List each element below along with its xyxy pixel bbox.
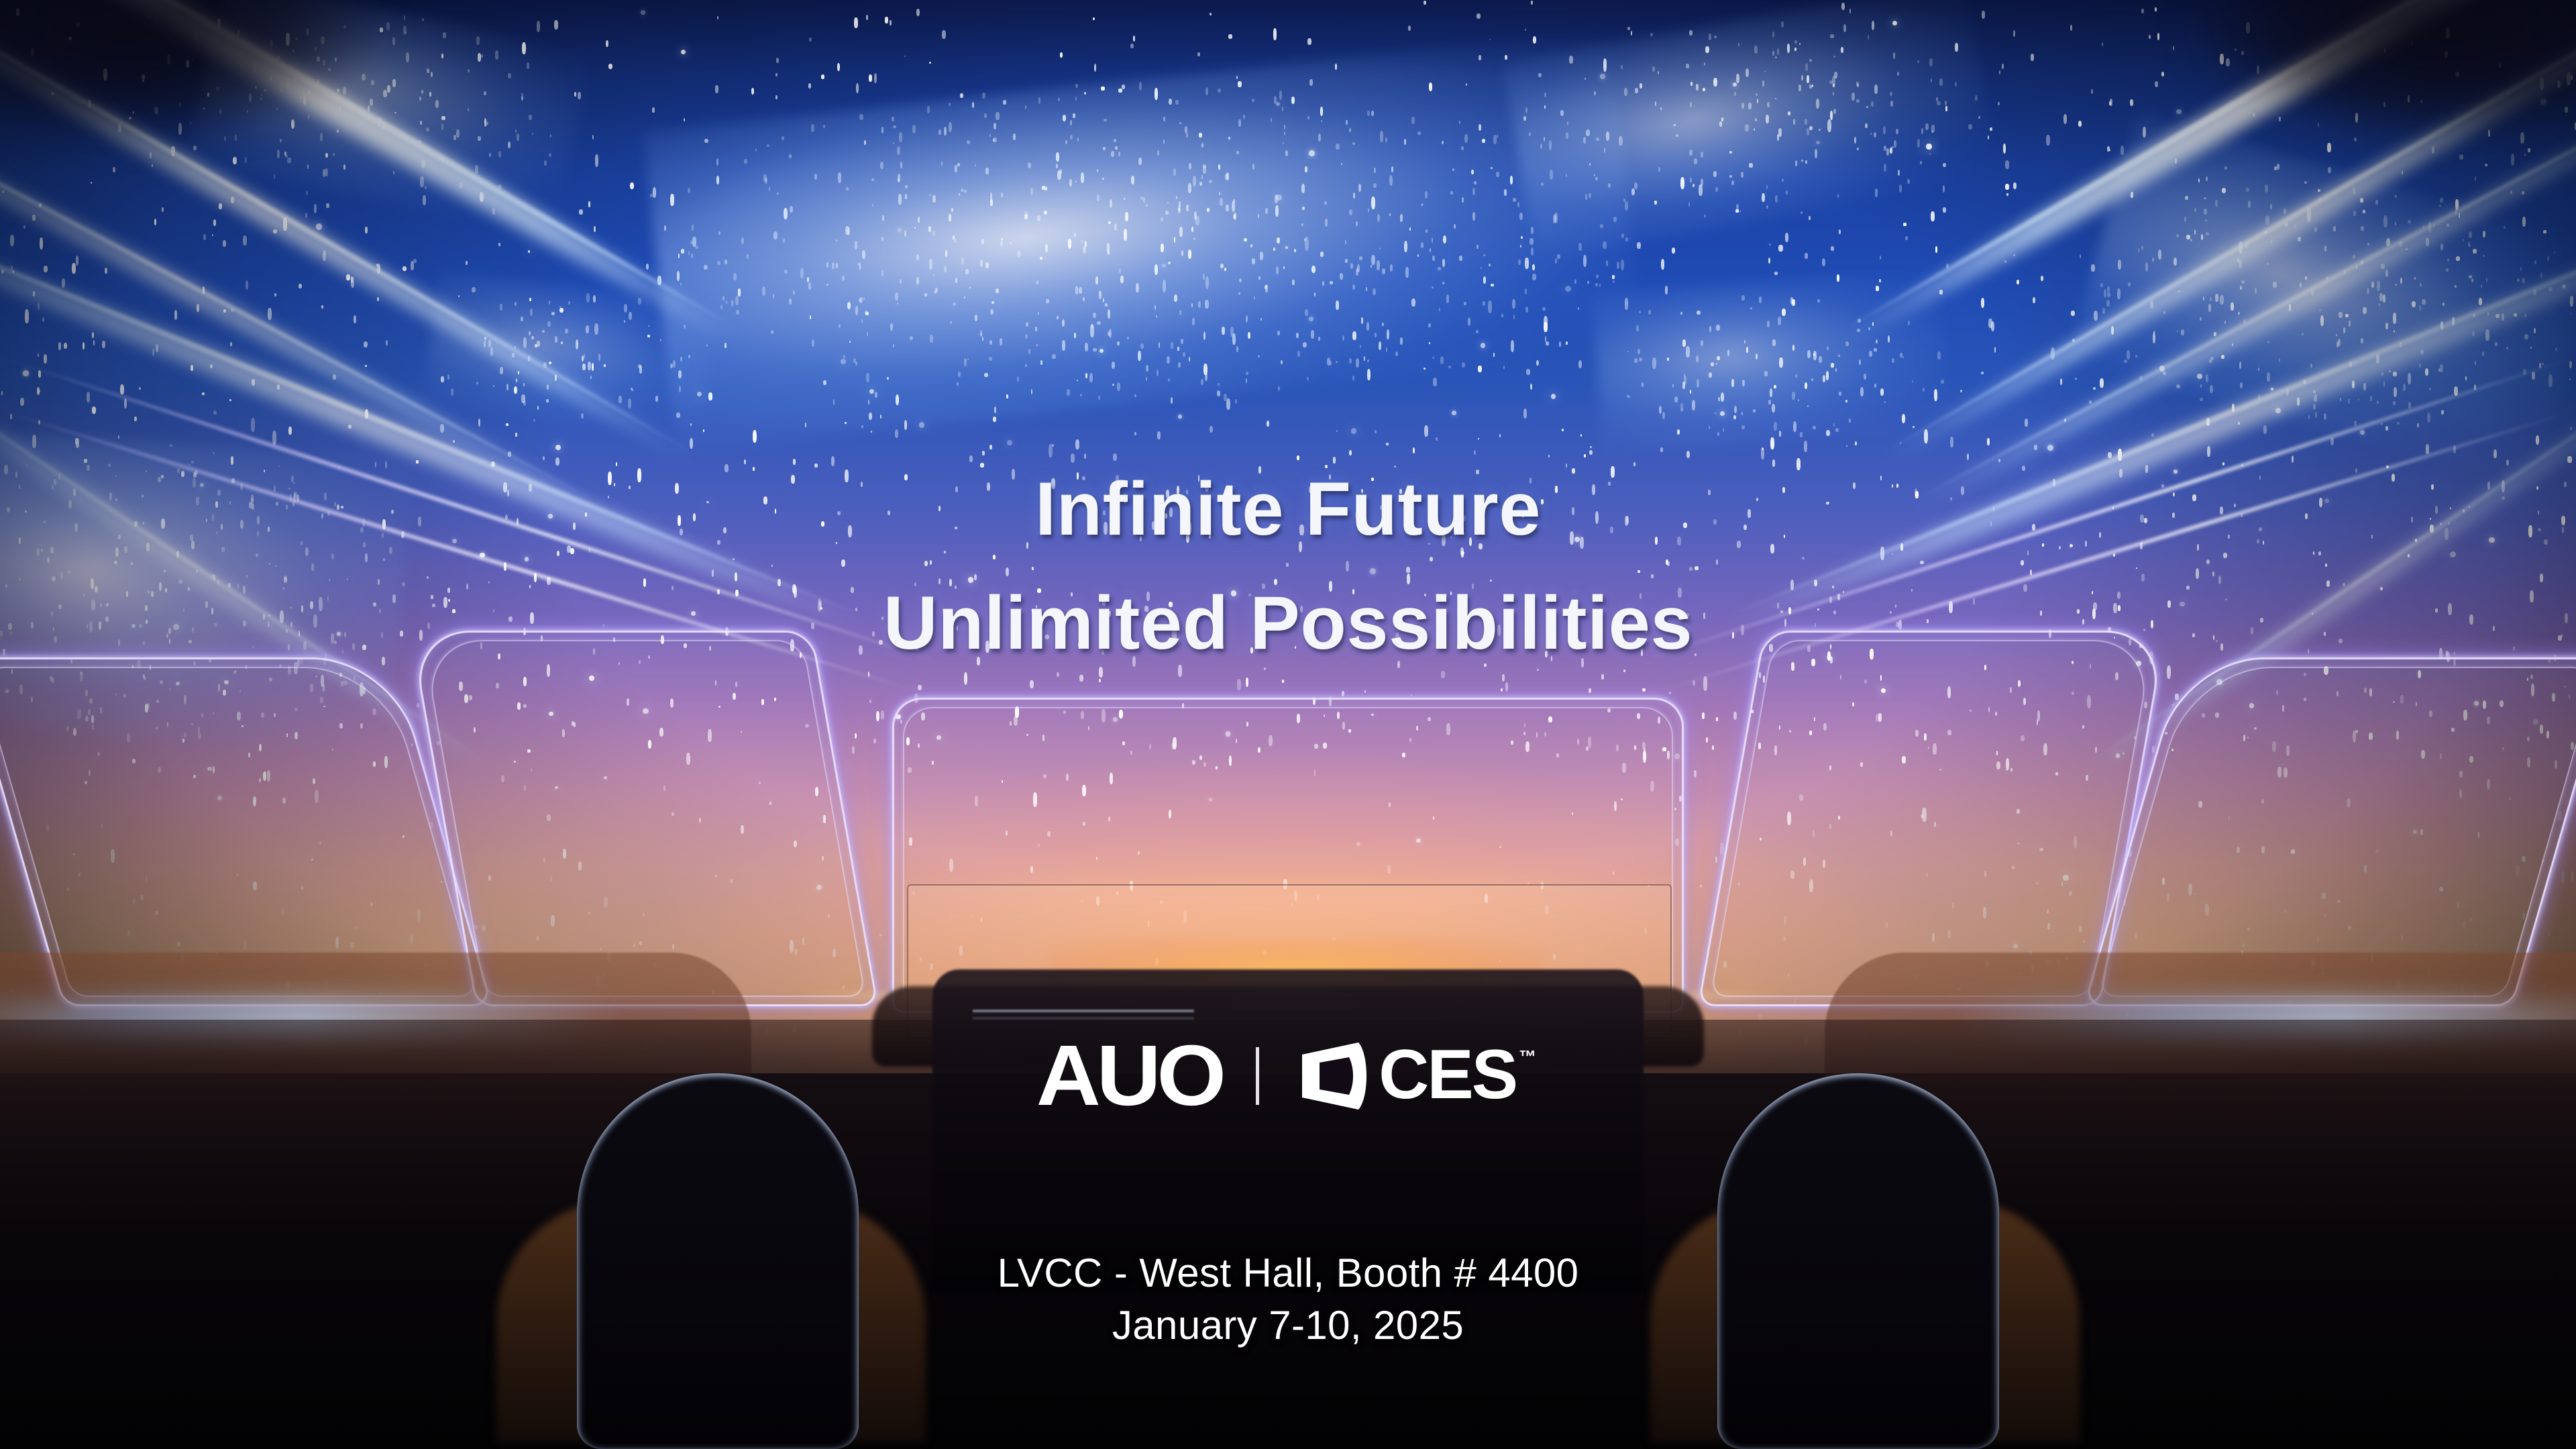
ces-trademark-symbol: ™ xyxy=(1519,1046,1536,1067)
ces-angular-d-mark-icon xyxy=(1297,1040,1376,1112)
footer-venue: LVCC - West Hall, Booth # 4400 xyxy=(0,1249,2576,1297)
ces-wordmark: CES xyxy=(1379,1040,1516,1110)
headline-line-1: Infinite Future xyxy=(0,470,2576,549)
console-accent-stripe xyxy=(973,1010,1194,1012)
console-accent-stripe-2 xyxy=(973,1017,1194,1020)
window-frame-inner-3 xyxy=(1710,640,2154,997)
footer-dates: January 7-10, 2025 xyxy=(0,1301,2576,1350)
key-visual-stage: Infinite Future Unlimited Possibilities … xyxy=(0,0,2576,1449)
headline-line-2: Unlimited Possibilities xyxy=(0,584,2576,663)
logo-row: AUO CES ™ xyxy=(0,1033,2576,1119)
logo-divider xyxy=(1256,1047,1259,1105)
auo-logo: AUO xyxy=(1036,1033,1222,1119)
roof-corner-right xyxy=(2187,0,2576,141)
ces-logo: CES ™ xyxy=(1297,1040,1536,1112)
window-frame-inner-1 xyxy=(422,640,866,997)
roof-corner-left xyxy=(0,0,389,141)
